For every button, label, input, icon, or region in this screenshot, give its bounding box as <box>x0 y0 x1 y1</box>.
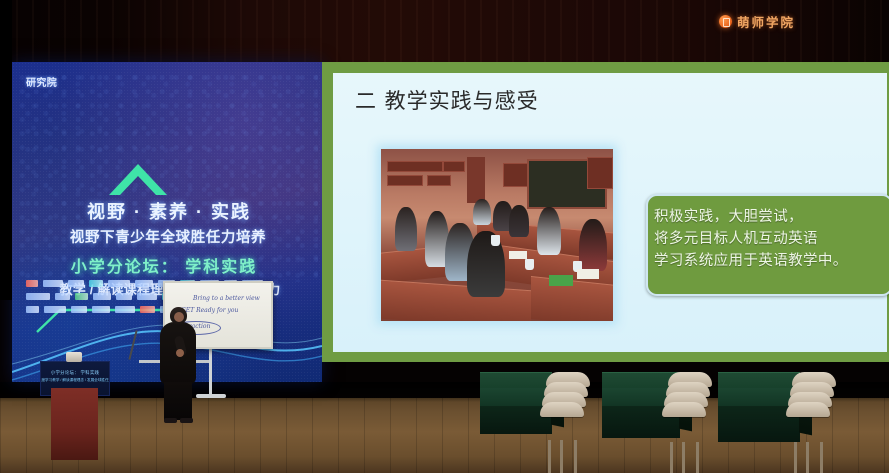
speaker-shoe-right <box>180 418 193 423</box>
banner-line-1: 视野 · 素养 · 实践 <box>24 198 314 224</box>
classroom-photo <box>381 149 613 321</box>
stage-backdrop-curtain <box>0 0 889 64</box>
banner-line-3: 小学分论坛： 学科实践 <box>14 253 314 277</box>
banner-institute-label: 研究院 <box>26 74 57 89</box>
whiteboard-foot <box>196 394 226 398</box>
brand-circle-icon <box>719 15 732 28</box>
speaker-legs <box>164 382 192 420</box>
chevron-up-icon <box>107 162 169 196</box>
speaker-face <box>174 312 184 322</box>
note-line-3: 学习系统应用于英语教学中。 <box>654 250 889 272</box>
note-line-2: 将多元目标人机互动英语 <box>654 228 889 250</box>
whiteboard-line-2: GET Ready for you <box>181 307 238 314</box>
speaker-shoe-left <box>164 418 177 423</box>
note-line-1: 积极实践，大胆尝试， <box>654 206 889 228</box>
chair-legs <box>670 442 700 473</box>
chair-legs <box>548 440 578 473</box>
podium-logo-plate <box>66 352 82 362</box>
whiteboard-line-1: Bring to a better view <box>193 295 260 302</box>
slide-note-box: 积极实践，大胆尝试， 将多元目标人机互动英语 学习系统应用于英语教学中。 <box>646 194 889 296</box>
brand-logo: 萌师学院 <box>719 12 795 31</box>
slide-note-text: 积极实践，大胆尝试， 将多元目标人机互动英语 学习系统应用于英语教学中。 <box>654 206 889 272</box>
slide-content: 二 教学实践与感受 <box>333 73 887 352</box>
left-dark-edge <box>0 0 12 300</box>
projected-slide-frame: 二 教学实践与感受 <box>322 62 889 362</box>
photo-door <box>467 157 485 203</box>
whiteboard-stand <box>209 345 212 397</box>
stacked-chairs-2 <box>662 372 716 444</box>
stacked-chairs-3 <box>786 372 840 444</box>
screenshot-canvas: 萌师学院 研究院 视野 · 素养 · 实践 视野下青少年全球胜任力培养 小学分论… <box>0 0 889 473</box>
podium-text-line-2: 深度学习教学 / 解读课程理念 / 发展全球胜任力 <box>40 378 110 383</box>
stacked-chairs-1 <box>540 372 592 442</box>
chair-legs <box>794 442 824 473</box>
speaker-hand <box>176 349 184 357</box>
slide-title: 二 教学实践与感受 <box>355 85 539 115</box>
photo-green-notebook <box>549 275 573 286</box>
banner-line-2: 视野下青少年全球胜任力培养 <box>16 226 320 247</box>
podium-text-line-1: 小学分论坛： 学科实践 <box>51 370 99 376</box>
podium <box>51 388 98 460</box>
brand-name-label: 萌师学院 <box>737 12 795 31</box>
